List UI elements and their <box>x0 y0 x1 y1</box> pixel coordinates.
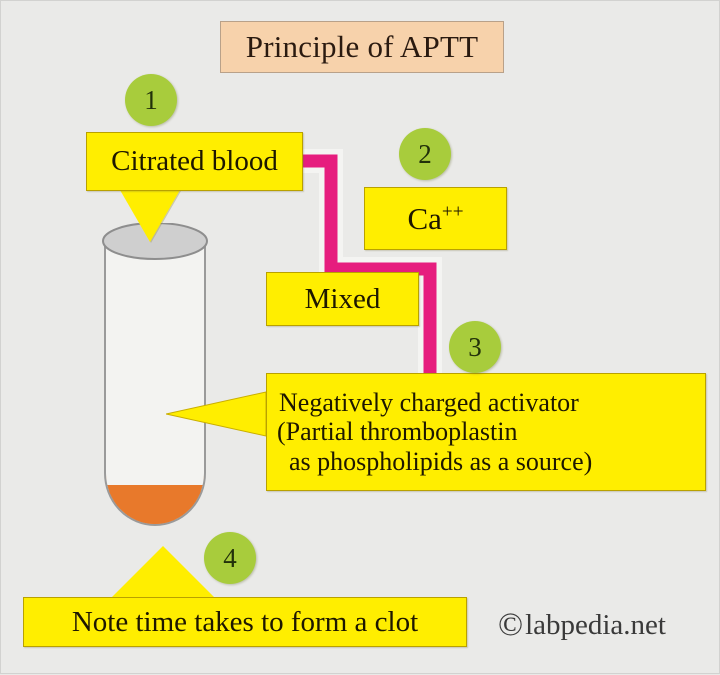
note-pointer <box>111 546 215 598</box>
step-number-3: 3 <box>449 321 501 373</box>
copyright-icon: © <box>498 609 523 642</box>
copyright-notice: © labpedia.net <box>498 609 666 642</box>
step-number-2: 2 <box>399 128 451 180</box>
diagram-canvas: Principle of APTT Citrated blood <box>0 0 720 674</box>
step-number-2-label: 2 <box>418 139 432 170</box>
activator-line-3: as phospholipids as a source) <box>279 447 592 476</box>
step-number-4: 4 <box>204 532 256 584</box>
step-number-1: 1 <box>125 74 177 126</box>
mixed-label: Mixed <box>305 283 381 316</box>
note-label: Note time takes to form a clot <box>72 606 418 639</box>
calcium-box[interactable]: Ca++ <box>364 187 507 250</box>
note-box[interactable]: Note time takes to form a clot <box>23 597 467 647</box>
calcium-label: Ca++ <box>407 201 463 237</box>
activator-pointer <box>166 389 266 437</box>
page-title: Principle of APTT <box>220 21 504 73</box>
activator-box[interactable]: Negatively charged activator (Partial th… <box>266 373 706 491</box>
calcium-symbol: Ca <box>407 201 441 236</box>
step-number-4-label: 4 <box>223 543 237 574</box>
step-number-3-label: 3 <box>468 332 482 363</box>
citrated-blood-box[interactable]: Citrated blood <box>86 132 303 191</box>
activator-line-1: Negatively charged activator <box>279 388 579 417</box>
citrated-blood-pointer <box>120 190 180 242</box>
citrated-blood-label: Citrated blood <box>111 145 278 178</box>
site-name: labpedia.net <box>525 609 666 642</box>
mixed-box[interactable]: Mixed <box>266 272 419 326</box>
calcium-charge: ++ <box>442 201 464 222</box>
test-tube <box>97 223 213 543</box>
activator-line-2: (Partial thromboplastin <box>279 417 517 446</box>
step-number-1-label: 1 <box>144 85 158 116</box>
